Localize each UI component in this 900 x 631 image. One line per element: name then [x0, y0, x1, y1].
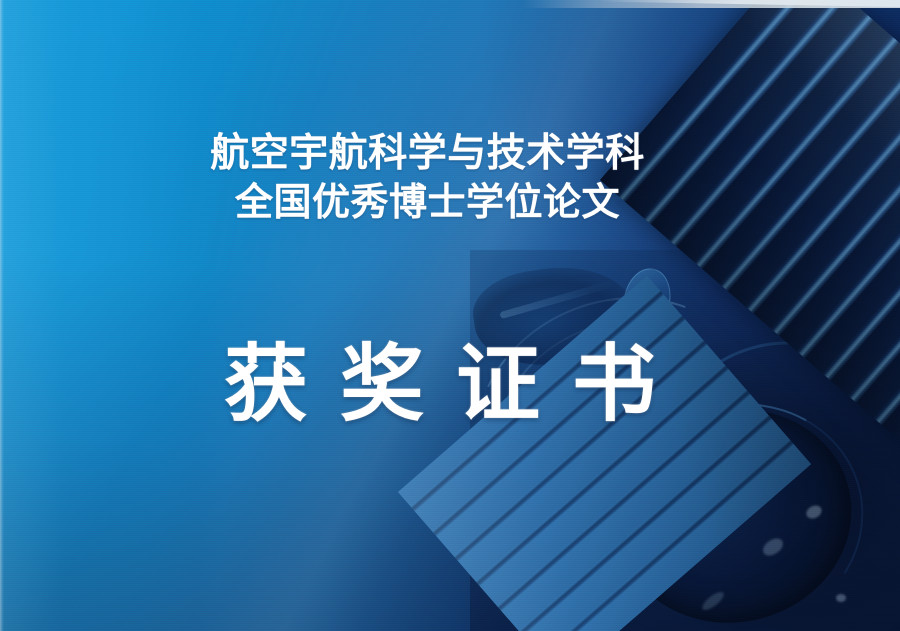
certificate-cover: 航空宇航科学与技术学科 全国优秀博士学位论文 获奖证书	[0, 0, 900, 631]
scan-grain-texture	[0, 0, 900, 631]
scan-edge-left	[0, 0, 4, 631]
